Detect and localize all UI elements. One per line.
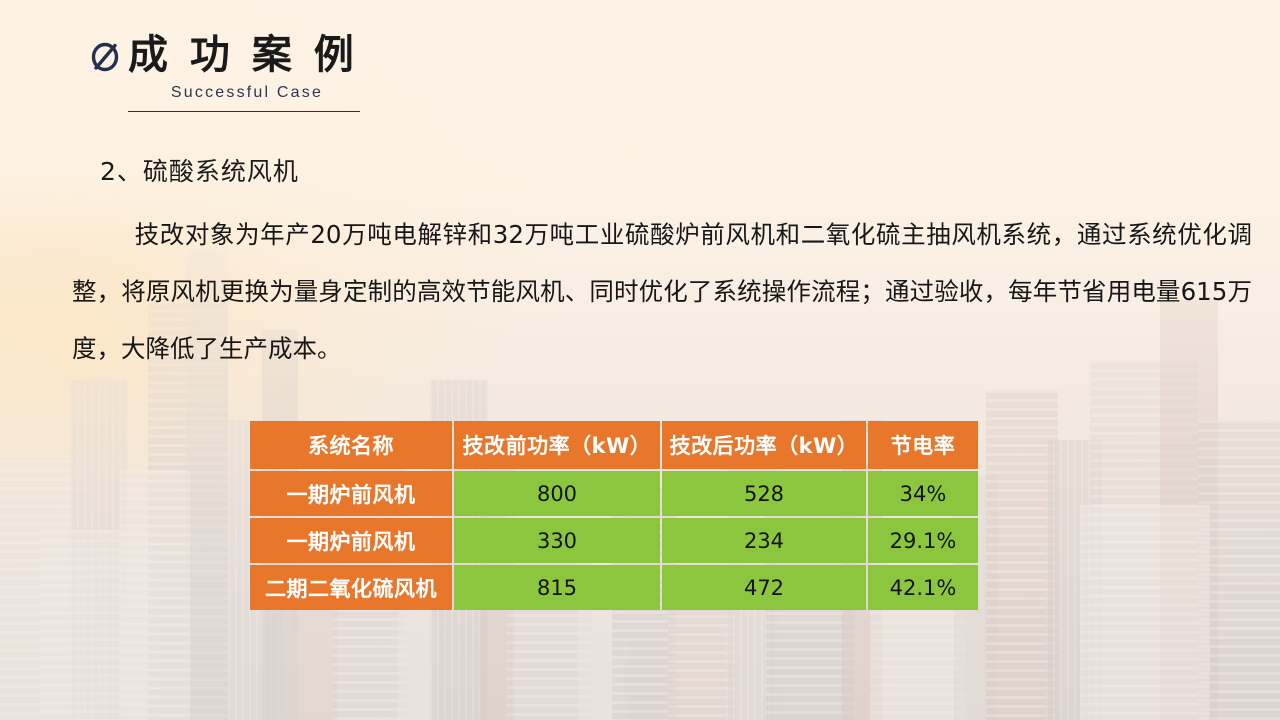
subtitle-wrap: Successful Case xyxy=(88,82,366,112)
cell-power-before: 330 xyxy=(454,518,660,563)
table-row: 一期炉前风机 800 528 34% xyxy=(250,471,978,516)
results-table-wrap: 系统名称 技改前功率（kW） 技改后功率（kW） 节电率 一期炉前风机 800 … xyxy=(248,419,976,612)
slide-header: 成 功 案 例 Successful Case xyxy=(88,34,488,112)
cell-power-before: 800 xyxy=(454,471,660,516)
cell-power-after: 528 xyxy=(662,471,866,516)
title-underline-rule xyxy=(128,111,360,112)
table-header-row: 系统名称 技改前功率（kW） 技改后功率（kW） 节电率 xyxy=(250,421,978,469)
cell-system-name: 一期炉前风机 xyxy=(250,518,452,563)
results-table: 系统名称 技改前功率（kW） 技改后功率（kW） 节电率 一期炉前风机 800 … xyxy=(248,419,980,612)
cell-system-name: 一期炉前风机 xyxy=(250,471,452,516)
body-paragraph: 技改对象为年产20万吨电解锌和32万吨工业硫酸炉前风机和二氧化硫主抽风机系统，通… xyxy=(72,206,1252,377)
section-heading: 2、硫酸系统风机 xyxy=(100,152,299,188)
page-title: 成 功 案 例 xyxy=(128,34,358,76)
circle-slash-icon xyxy=(88,39,122,73)
cell-power-after: 472 xyxy=(662,565,866,610)
cell-power-after: 234 xyxy=(662,518,866,563)
slide-canvas: 成 功 案 例 Successful Case 2、硫酸系统风机 技改对象为年产… xyxy=(0,0,1280,720)
cell-power-before: 815 xyxy=(454,565,660,610)
table-body: 一期炉前风机 800 528 34% 一期炉前风机 330 234 29.1% … xyxy=(250,471,978,610)
page-subtitle: Successful Case xyxy=(128,82,366,104)
col-header-power-after: 技改后功率（kW） xyxy=(662,421,866,469)
title-row: 成 功 案 例 xyxy=(88,34,488,76)
col-header-system-name: 系统名称 xyxy=(250,421,452,469)
body-paragraph-text: 技改对象为年产20万吨电解锌和32万吨工业硫酸炉前风机和二氧化硫主抽风机系统，通… xyxy=(72,220,1252,363)
col-header-power-before: 技改前功率（kW） xyxy=(454,421,660,469)
cell-saving-rate: 34% xyxy=(868,471,978,516)
table-head: 系统名称 技改前功率（kW） 技改后功率（kW） 节电率 xyxy=(250,421,978,469)
table-row: 一期炉前风机 330 234 29.1% xyxy=(250,518,978,563)
cell-system-name: 二期二氧化硫风机 xyxy=(250,565,452,610)
table-row: 二期二氧化硫风机 815 472 42.1% xyxy=(250,565,978,610)
cell-saving-rate: 42.1% xyxy=(868,565,978,610)
cell-saving-rate: 29.1% xyxy=(868,518,978,563)
col-header-saving-rate: 节电率 xyxy=(868,421,978,469)
body-paragraph-block: 技改对象为年产20万吨电解锌和32万吨工业硫酸炉前风机和二氧化硫主抽风机系统，通… xyxy=(72,206,1252,377)
